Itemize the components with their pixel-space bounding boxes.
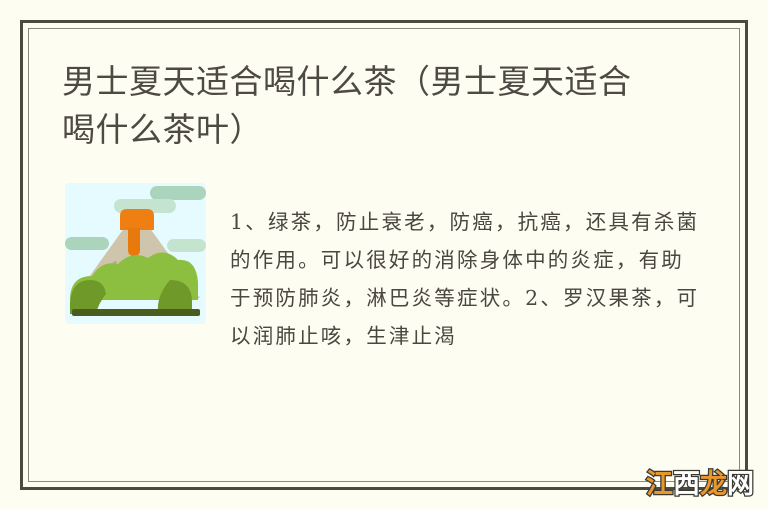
site-watermark: 江西龙网 [646,471,754,498]
watermark-char-1: 西 [673,471,700,498]
volcano-icon [62,180,212,330]
watermark-char-0: 江 [646,471,673,498]
page-title: 男士夏天适合喝什么茶（男士夏天适合喝什么茶叶） [62,58,662,154]
volcano-illustration-svg [62,180,212,330]
card-content: 男士夏天适合喝什么茶（男士夏天适合喝什么茶叶） [28,28,740,482]
watermark-char-2: 龙 [700,471,727,498]
article-body-row: 1、绿茶，防止衰老，防癌，抗癌，还具有杀菌的作用。可以很好的消除身体中的炎症，有… [62,180,706,375]
article-body-text: 1、绿茶，防止衰老，防癌，抗癌，还具有杀菌的作用。可以很好的消除身体中的炎症，有… [230,201,706,355]
article-card: 男士夏天适合喝什么茶（男士夏天适合喝什么茶叶） [0,0,768,510]
watermark-char-3: 网 [727,471,754,498]
